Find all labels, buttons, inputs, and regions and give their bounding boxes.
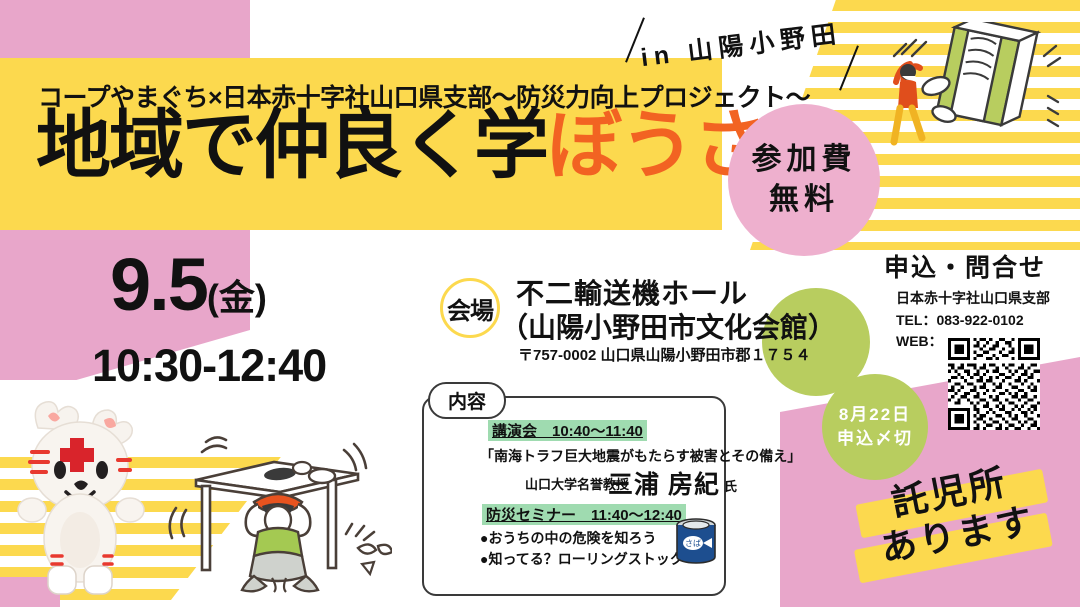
event-weekday: (金) xyxy=(207,277,267,318)
earthquake-drill-illustration xyxy=(162,428,392,598)
participation-fee-badge: 参加費 無料 xyxy=(728,104,880,256)
contact-tel: TEL：083-922-0102 xyxy=(896,310,1050,332)
seminar-bullet-2: ●知ってる？ローリングストック xyxy=(480,549,684,570)
red-cross-bear-mascot xyxy=(8,388,158,603)
venue-subname: （山陽小野田市文化会館） xyxy=(500,306,836,346)
seminar-bullet-1: ●おうちの中の危険を知ろう xyxy=(480,528,684,549)
qr-code[interactable] xyxy=(948,338,1040,430)
deadline-label: 申込〆切 xyxy=(837,427,913,451)
title-black-part: 地域で仲良く学 xyxy=(36,103,547,187)
contact-title: 申込・問合せ xyxy=(884,248,1046,284)
lecture-heading: 講演会 10:40〜11:40 xyxy=(488,420,647,441)
poster-canvas: in 山陽小野田 コープやまぐち×日本赤十字社山口県支部〜防災力向上プロジェクト… xyxy=(0,0,1080,607)
event-date: 9.5(金) xyxy=(110,248,267,322)
seminar-heading-text: 防災セミナー 11:40〜12:40 xyxy=(482,504,686,525)
svg-text:さば: さば xyxy=(685,539,701,548)
seminar-heading: 防災セミナー 11:40〜12:40 xyxy=(482,504,686,525)
speaker-name: 三浦 房紀 xyxy=(608,465,720,501)
contact-org: 日本赤十字社山口県支部 xyxy=(896,288,1050,310)
deadline-date: 8月22日 xyxy=(839,403,911,427)
event-day: 9.5 xyxy=(110,243,207,326)
venue-label: 会場 xyxy=(447,291,493,326)
fee-value: 無料 xyxy=(769,180,839,221)
lecture-title: 「南海トラフ巨大地震がもたらす被害とその備え」 xyxy=(480,446,801,466)
event-time: 10:30-12:40 xyxy=(92,340,326,392)
content-tab-label: 内容 xyxy=(428,382,506,419)
application-deadline-badge: 8月22日 申込〆切 xyxy=(822,374,928,480)
speaker-suffix: 氏 xyxy=(724,476,737,495)
lecture-heading-text: 講演会 10:40〜11:40 xyxy=(488,420,647,441)
venue-label-badge: 会場 xyxy=(440,278,500,338)
seminar-bullets: ●おうちの中の危険を知ろう ●知ってる？ローリングストック xyxy=(480,528,684,570)
fee-label: 参加費 xyxy=(752,140,857,181)
falling-furniture-illustration xyxy=(880,22,1070,172)
venue-address: 〒757-0002 山口県山陽小野田市郡１７５４ xyxy=(518,344,811,365)
canned-fish-icon: さば xyxy=(672,516,720,566)
poster-title: 地域で仲良く学ぼうさい xyxy=(36,108,839,183)
